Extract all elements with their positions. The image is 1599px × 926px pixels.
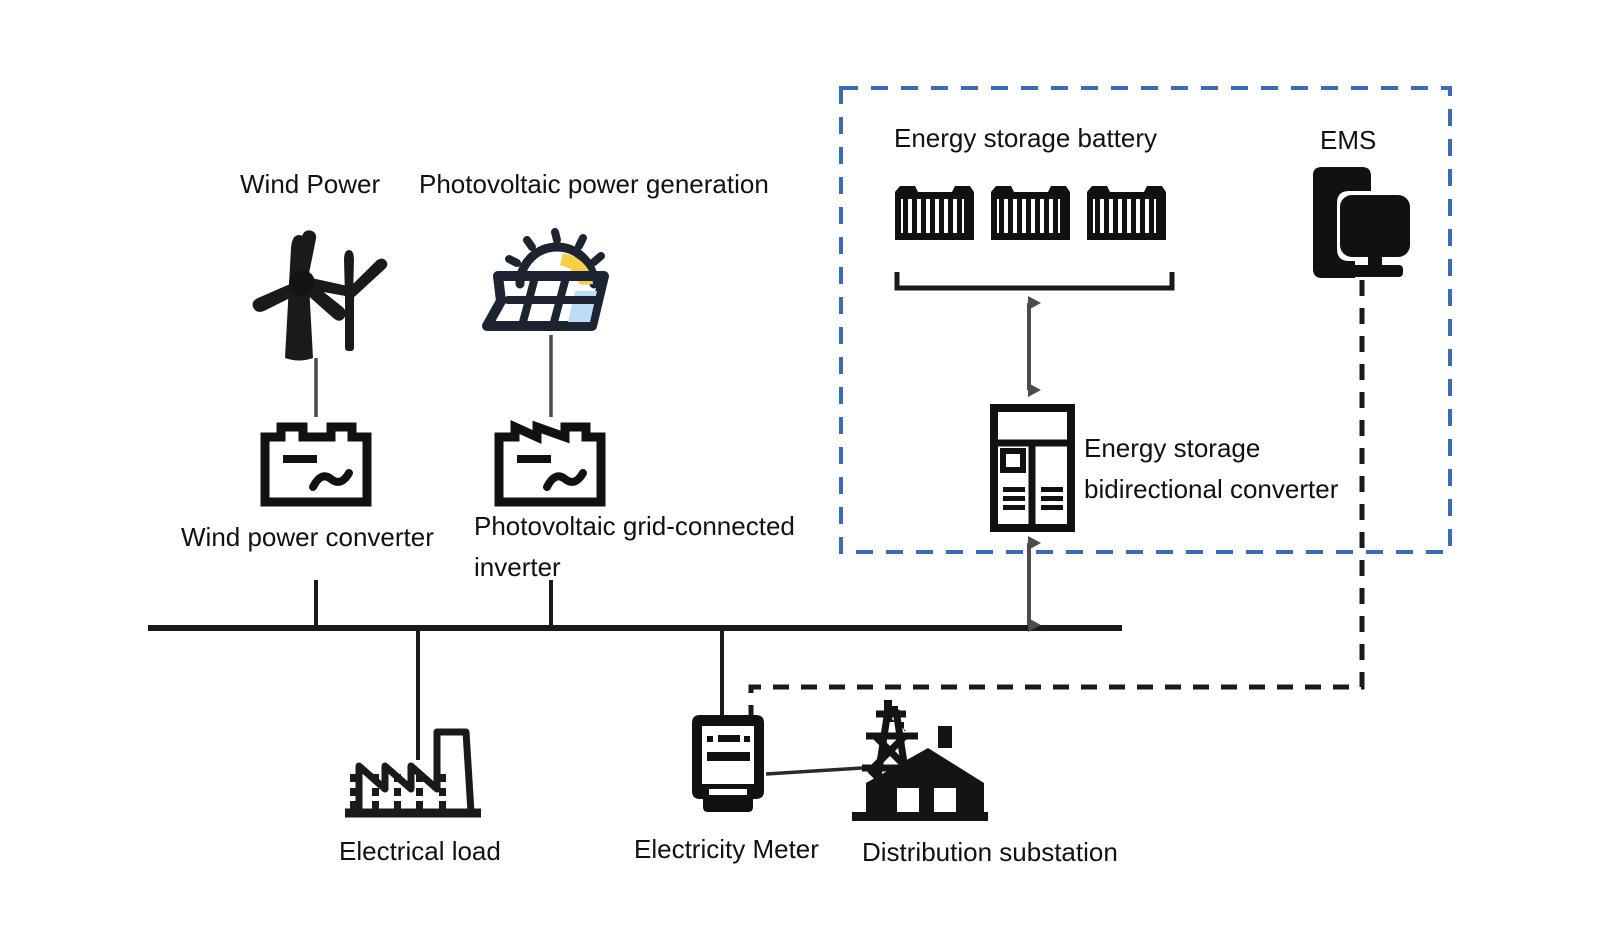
inverter-icon <box>499 427 601 502</box>
wind-turbine-icon <box>253 227 395 360</box>
electricity-meter-icon <box>692 715 764 812</box>
distribution-substation-label: Distribution substation <box>862 835 1118 869</box>
pv-inverter-label-line1: Photovoltaic grid-connected <box>474 509 795 543</box>
battery-group-bracket <box>897 272 1172 288</box>
pv-inverter-label-line2: inverter <box>474 550 561 584</box>
wind-power-label: Wind Power <box>240 167 380 201</box>
ems-label: EMS <box>1320 123 1376 157</box>
cabinet-icon <box>994 408 1071 528</box>
bidirectional-converter-label-line1: Energy storage <box>1084 431 1260 465</box>
wind-power-converter-label: Wind power converter <box>181 520 434 554</box>
solar-panel-icon <box>487 232 604 326</box>
converter-icon <box>265 427 367 502</box>
transmission-tower-house-icon <box>852 700 988 821</box>
meter-substation-link <box>766 768 862 774</box>
energy-storage-battery-label: Energy storage battery <box>894 121 1157 155</box>
battery-icon <box>895 186 1166 240</box>
electrical-load-label: Electrical load <box>339 834 501 868</box>
diagram-canvas: Wind Power Photovoltaic power generation… <box>0 0 1599 926</box>
computer-monitor-icon <box>1313 167 1410 278</box>
bidirectional-converter-label-line2: bidirectional converter <box>1084 472 1338 506</box>
electricity-meter-label: Electricity Meter <box>634 832 819 866</box>
photovoltaic-generation-label: Photovoltaic power generation <box>419 167 769 201</box>
factory-icon <box>345 732 481 813</box>
